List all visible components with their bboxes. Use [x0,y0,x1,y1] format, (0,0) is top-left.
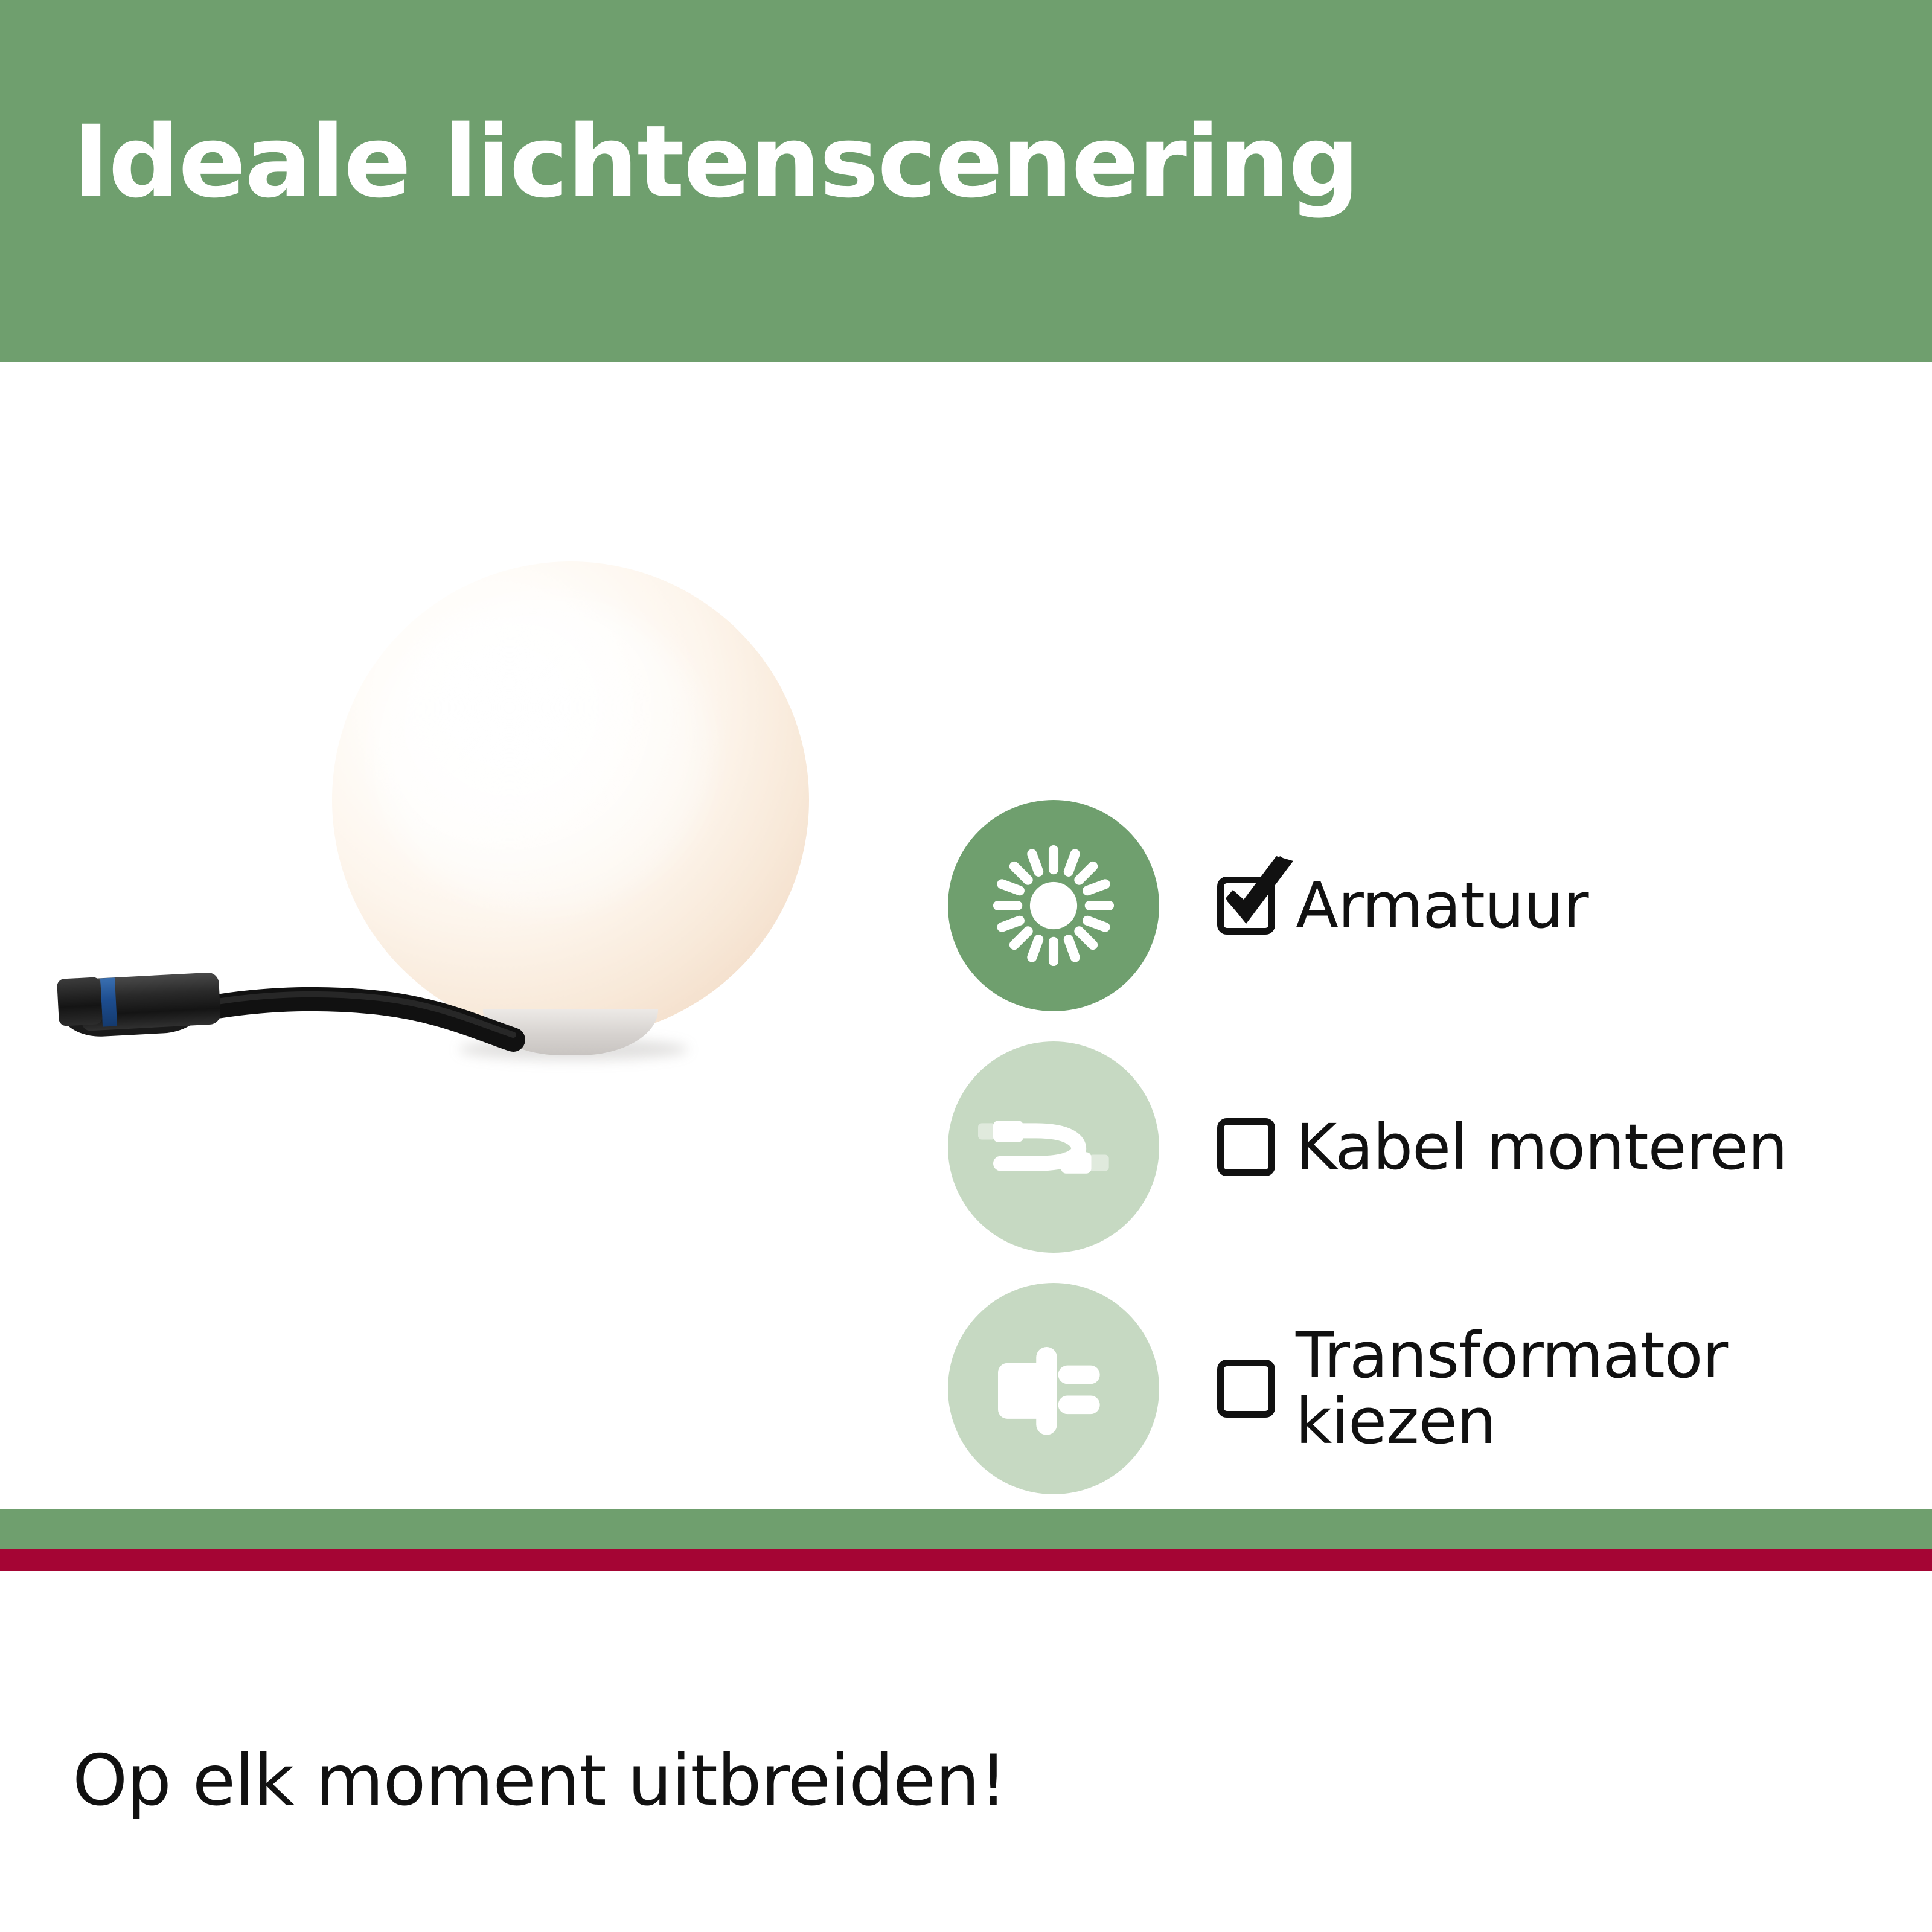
page-title: Ideale lichtenscenering [72,112,1358,212]
checkmark-icon [1214,856,1304,941]
product-image [36,555,869,1280]
checkbox-transformator[interactable] [1217,1360,1275,1418]
checklist-item-kabel[interactable]: Kabel monteren [948,1026,1890,1268]
checkbox-kabel[interactable] [1217,1118,1275,1176]
checklist-label: Armatuur [1296,872,1588,939]
sun-icon-badge [948,800,1159,1011]
cable-icon-badge [948,1041,1159,1253]
checkbox-box [1217,1118,1275,1176]
footer-area: Op elk moment uitbreiden! [0,1571,1932,1932]
sun-icon [984,836,1123,975]
checklist-label: Transformator kiezen [1296,1323,1727,1454]
main-content-area: Armatuur Kabel monteren [0,362,1932,1509]
checkbox-box [1217,1360,1275,1418]
checklist-label: Kabel monteren [1296,1114,1787,1180]
bottom-crimson-band [0,1549,1932,1571]
checklist-item-transformator[interactable]: Transformator kiezen [948,1268,1890,1509]
header-band: Ideale lichtenscenering [0,0,1932,362]
cable-icon [978,1072,1129,1223]
checklist-item-armatuur[interactable]: Armatuur [948,785,1890,1026]
plug-icon-badge [948,1283,1159,1494]
footer-text: Op elk moment uitbreiden! [72,1740,1006,1822]
plug-cap [57,977,103,1026]
bottom-green-band [0,1509,1932,1549]
checkbox-armatuur[interactable] [1217,877,1275,935]
plug-icon [984,1319,1123,1458]
plug-blue-ring [100,977,117,1026]
installation-checklist: Armatuur Kabel monteren [948,785,1890,1509]
